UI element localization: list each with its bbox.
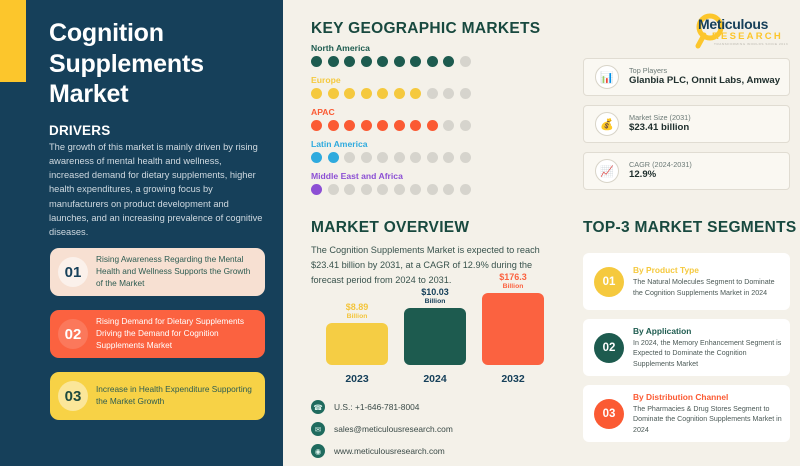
- segment-number: 01: [594, 267, 624, 297]
- contact-text: www.meticulousresearch.com: [334, 446, 445, 456]
- segment-heading: By Product Type: [633, 265, 782, 275]
- segments-title: TOP-3 MARKET SEGMENTS: [583, 219, 797, 237]
- bar-group: $10.03Billion: [404, 288, 466, 365]
- left-panel: Cognition Supplements Market DRIVERS The…: [0, 0, 283, 466]
- driver-text-1: Rising Awareness Regarding the Mental He…: [96, 254, 265, 289]
- info-card: 💰Market Size (2031)$23.41 billion: [583, 105, 790, 143]
- dot-empty: [377, 152, 388, 163]
- geographic-region-label: Latin America: [311, 139, 561, 149]
- bar-unit-label: Billion: [421, 298, 449, 305]
- dot-empty: [344, 152, 355, 163]
- segment-heading: By Distribution Channel: [633, 392, 782, 402]
- driver-number-1: 01: [50, 257, 96, 287]
- dot-empty: [410, 152, 421, 163]
- geographic-dot-scale: [311, 120, 561, 131]
- dot-filled: [328, 88, 339, 99]
- geographic-markets-title: KEY GEOGRAPHIC MARKETS: [311, 20, 540, 38]
- info-card-text: Top PlayersGlanbia PLC, Onnit Labs, Amwa…: [629, 66, 780, 88]
- dot-empty: [460, 88, 471, 99]
- geographic-row: Latin America: [311, 139, 561, 163]
- info-card-label: CAGR (2024-2031): [629, 160, 692, 169]
- geographic-dot-scale: [311, 88, 561, 99]
- dot-filled: [328, 56, 339, 67]
- segment-description: The Pharmacies & Drug Stores Segment to …: [633, 404, 782, 435]
- dot-filled: [311, 88, 322, 99]
- dot-filled: [394, 56, 405, 67]
- info-card-label: Top Players: [629, 66, 780, 75]
- bar: [326, 323, 388, 365]
- driver-card-1: 01 Rising Awareness Regarding the Mental…: [50, 248, 265, 296]
- dot-filled: [328, 120, 339, 131]
- dot-filled: [328, 152, 339, 163]
- dot-filled: [311, 184, 322, 195]
- dot-filled: [344, 88, 355, 99]
- info-card-value: $23.41 billion: [629, 122, 691, 135]
- bar-category-label: 2023: [326, 373, 388, 385]
- accent-bar: [0, 0, 26, 82]
- dot-empty: [460, 120, 471, 131]
- dot-empty: [410, 184, 421, 195]
- bar-unit-label: Billion: [346, 313, 369, 320]
- drivers-heading: DRIVERS: [49, 123, 110, 138]
- bar-group: $176.3Billion: [482, 273, 544, 365]
- info-card-value: Glanbia PLC, Onnit Labs, Amway: [629, 75, 780, 88]
- dot-filled: [410, 56, 421, 67]
- contact-row[interactable]: ✉sales@meticulousresearch.com: [311, 420, 453, 438]
- geographic-row: Europe: [311, 75, 561, 99]
- dot-empty: [394, 184, 405, 195]
- dot-filled: [394, 88, 405, 99]
- logo-secondary-text: RESEARCH: [712, 31, 783, 42]
- driver-text-3: Increase in Health Expenditure Supportin…: [96, 384, 265, 408]
- dot-empty: [427, 184, 438, 195]
- driver-number-3: 03: [50, 381, 96, 411]
- money-bag-icon: 💰: [595, 112, 619, 136]
- bar: [404, 308, 466, 365]
- bar-group: $8.89Billion: [326, 303, 388, 365]
- bar-value-label: $8.89Billion: [346, 303, 369, 320]
- dot-empty: [361, 152, 372, 163]
- info-card-value: 12.9%: [629, 169, 692, 182]
- dot-filled: [427, 120, 438, 131]
- drivers-body: The growth of this market is mainly driv…: [49, 140, 264, 239]
- dot-filled: [361, 88, 372, 99]
- dot-empty: [460, 56, 471, 67]
- dot-empty: [460, 184, 471, 195]
- dot-filled: [311, 120, 322, 131]
- contact-text: U.S.: +1-646-781-8004: [334, 402, 419, 412]
- dot-filled: [361, 120, 372, 131]
- dot-filled: [377, 88, 388, 99]
- dot-filled: [377, 56, 388, 67]
- dot-filled: [311, 56, 322, 67]
- dot-empty: [427, 152, 438, 163]
- segment-card: 01By Product TypeThe Natural Molecules S…: [583, 253, 790, 310]
- geographic-dot-scale: [311, 152, 561, 163]
- bar-value-label: $10.03Billion: [421, 288, 449, 305]
- dot-filled: [344, 120, 355, 131]
- geographic-row: Middle East and Africa: [311, 171, 561, 195]
- page-title: Cognition Supplements Market: [49, 18, 274, 110]
- dot-filled: [427, 56, 438, 67]
- segment-number: 03: [594, 399, 624, 429]
- driver-card-2: 02 Rising Demand for Dietary Supplements…: [50, 310, 265, 358]
- dot-filled: [394, 120, 405, 131]
- dot-empty: [460, 152, 471, 163]
- email-icon: ✉: [311, 422, 325, 436]
- bar: [482, 293, 544, 365]
- phone-icon: ☎: [311, 400, 325, 414]
- contact-block: ☎U.S.: +1-646-781-8004✉sales@meticulousr…: [311, 398, 453, 464]
- geographic-dot-scale: [311, 56, 561, 67]
- infographic-page: Cognition Supplements Market DRIVERS The…: [0, 0, 800, 466]
- segment-card: 02By ApplicationIn 2024, the Memory Enha…: [583, 319, 790, 376]
- dot-empty: [443, 88, 454, 99]
- contact-row[interactable]: ☎U.S.: +1-646-781-8004: [311, 398, 453, 416]
- segment-body: By Product TypeThe Natural Molecules Seg…: [633, 265, 790, 298]
- market-overview-bar-chart: $8.89Billion2023$10.03Billion2024$176.3B…: [320, 285, 560, 385]
- info-card: 📊Top PlayersGlanbia PLC, Onnit Labs, Amw…: [583, 58, 790, 96]
- bar-category-label: 2032: [482, 373, 544, 385]
- contact-text: sales@meticulousresearch.com: [334, 424, 453, 434]
- geographic-region-label: Middle East and Africa: [311, 171, 561, 181]
- dot-empty: [394, 152, 405, 163]
- dot-filled: [443, 56, 454, 67]
- driver-number-2: 02: [50, 319, 96, 349]
- segment-description: In 2024, the Memory Enhancement Segment …: [633, 338, 782, 369]
- dot-empty: [361, 184, 372, 195]
- segment-number: 02: [594, 333, 624, 363]
- bar-category-label: 2024: [404, 373, 466, 385]
- market-overview-title: MARKET OVERVIEW: [311, 219, 469, 237]
- globe-icon: ◉: [311, 444, 325, 458]
- dot-empty: [443, 120, 454, 131]
- bar-value-label: $176.3Billion: [499, 273, 527, 290]
- geographic-row: APAC: [311, 107, 561, 131]
- dot-filled: [311, 152, 322, 163]
- geographic-dot-scale: [311, 184, 561, 195]
- dot-empty: [427, 88, 438, 99]
- info-card-text: Market Size (2031)$23.41 billion: [629, 113, 691, 135]
- dot-empty: [377, 184, 388, 195]
- driver-text-2: Rising Demand for Dietary Supplements Dr…: [96, 316, 265, 351]
- info-card: 📈CAGR (2024-2031)12.9%: [583, 152, 790, 190]
- dot-filled: [344, 56, 355, 67]
- geographic-region-label: APAC: [311, 107, 561, 117]
- dot-empty: [344, 184, 355, 195]
- geographic-region-label: North America: [311, 43, 561, 53]
- contact-row[interactable]: ◉www.meticulousresearch.com: [311, 442, 453, 460]
- bar-unit-label: Billion: [499, 283, 527, 290]
- segment-card: 03By Distribution ChannelThe Pharmacies …: [583, 385, 790, 442]
- segment-heading: By Application: [633, 326, 782, 336]
- dot-filled: [377, 120, 388, 131]
- segment-description: The Natural Molecules Segment to Dominat…: [633, 277, 782, 298]
- dot-empty: [443, 184, 454, 195]
- info-card-label: Market Size (2031): [629, 113, 691, 122]
- dot-filled: [410, 120, 421, 131]
- geographic-region-label: Europe: [311, 75, 561, 85]
- logo-primary-text: Meticulous: [698, 16, 768, 32]
- bar-chart-icon: 📊: [595, 65, 619, 89]
- dot-empty: [443, 152, 454, 163]
- segment-body: By Distribution ChannelThe Pharmacies & …: [633, 392, 790, 435]
- dot-empty: [328, 184, 339, 195]
- logo-tagline: TRANSFORMING WORLDS SINCE 2013: [714, 42, 788, 46]
- driver-card-3: 03 Increase in Health Expenditure Suppor…: [50, 372, 265, 420]
- company-logo: Meticulous RESEARCH TRANSFORMING WORLDS …: [688, 10, 792, 50]
- growth-chart-icon: 📈: [595, 159, 619, 183]
- info-card-text: CAGR (2024-2031)12.9%: [629, 160, 692, 182]
- geographic-row: North America: [311, 43, 561, 67]
- dot-filled: [410, 88, 421, 99]
- segment-body: By ApplicationIn 2024, the Memory Enhanc…: [633, 326, 790, 369]
- dot-filled: [361, 56, 372, 67]
